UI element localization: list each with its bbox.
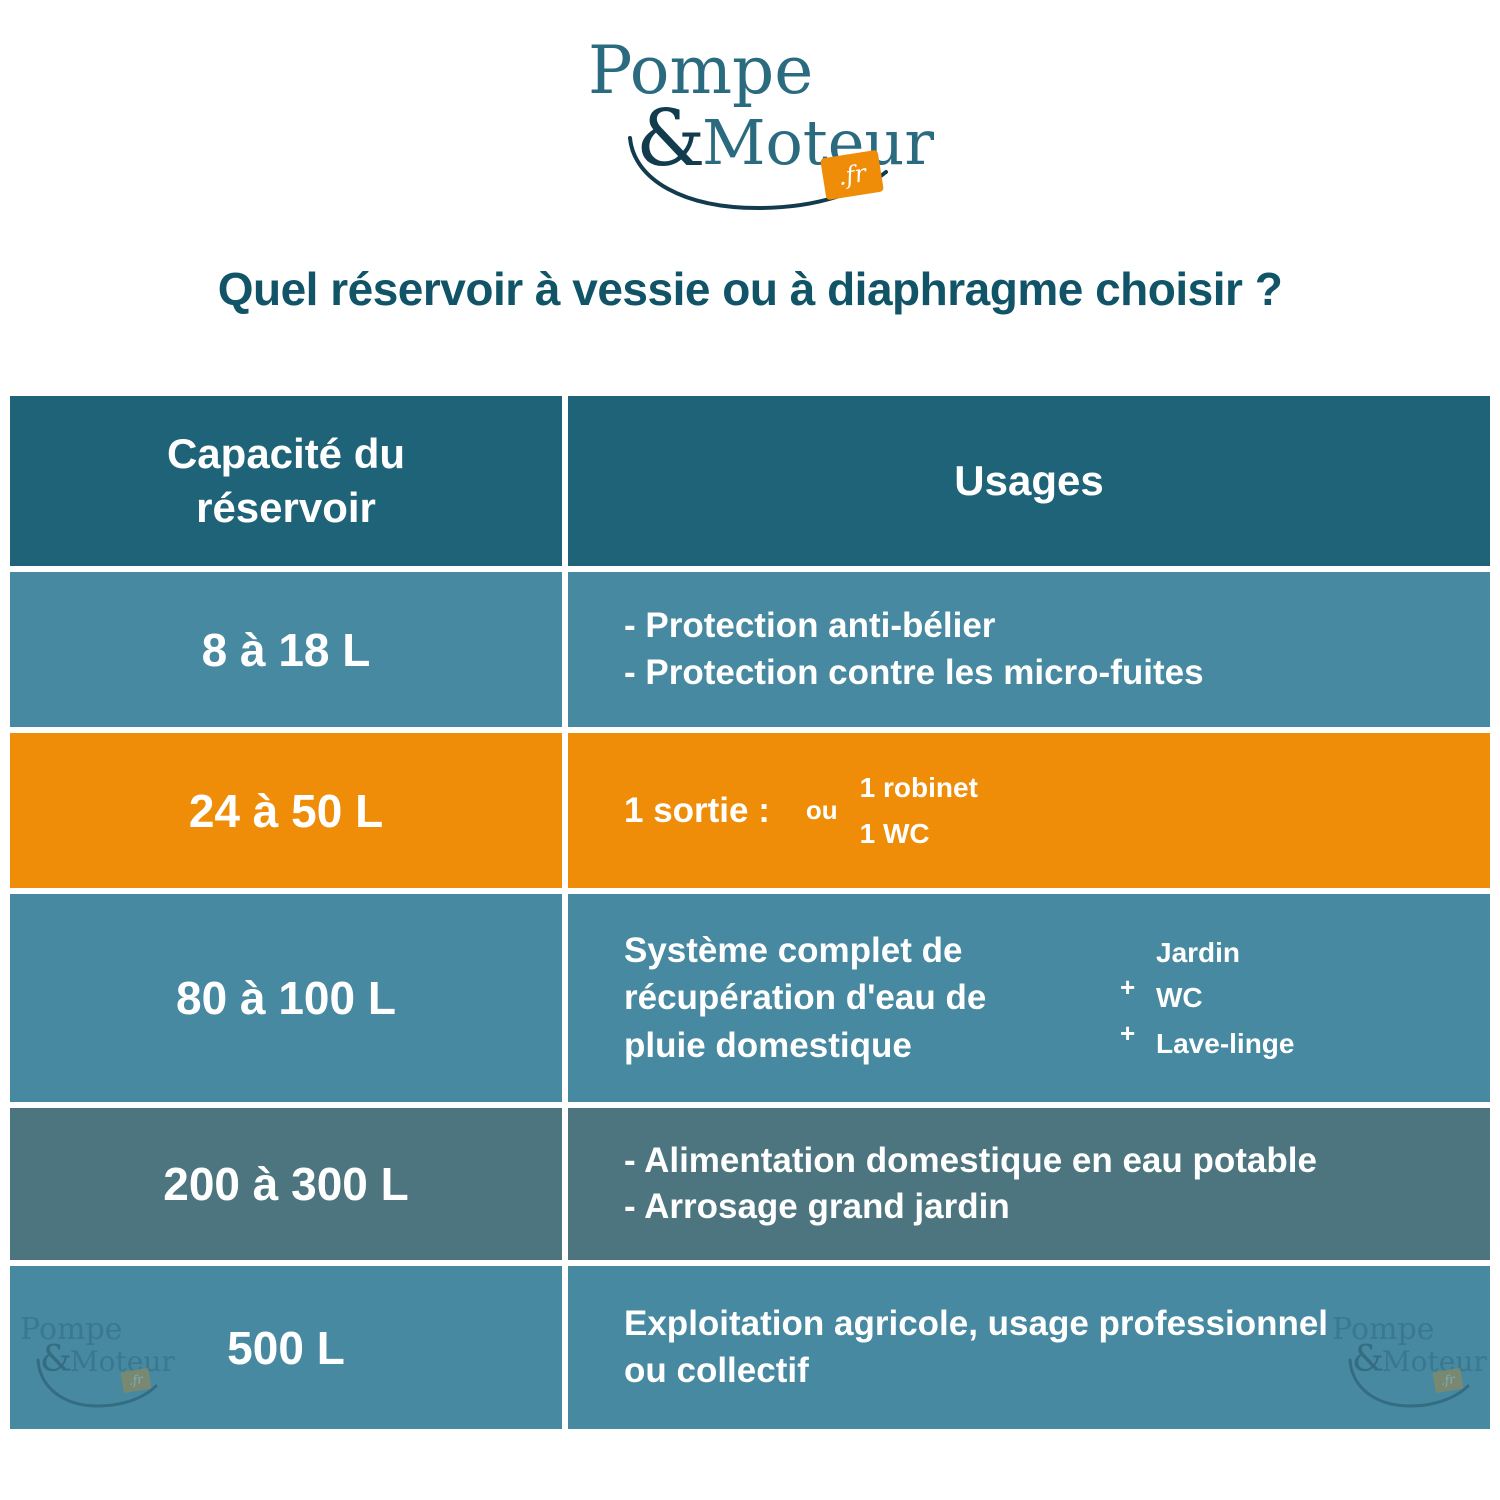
capacity-value-4: 200 à 300 L: [163, 1157, 409, 1211]
plus-sign-icon: +: [1120, 966, 1135, 1008]
header-usages-label: Usages: [624, 454, 1490, 508]
capacity-value-2: 24 à 50 L: [189, 784, 383, 838]
watermark-word-pompe: Pompe: [20, 1312, 122, 1347]
usage-list-4: - Alimentation domestique en eau potable…: [624, 1138, 1317, 1230]
row-capacity-cell-2: 24 à 50 L: [10, 733, 562, 888]
usage-line: - Arrosage grand jardin: [624, 1184, 1317, 1230]
plus-item: Lave-linge: [1120, 1021, 1294, 1066]
table-row: 80 à 100 L Système complet de récupérati…: [10, 894, 1490, 1102]
row-capacity-cell-3: 80 à 100 L: [10, 894, 562, 1102]
watermark-word-pompe: Pompe: [1332, 1312, 1434, 1347]
table-row: 200 à 300 L - Alimentation domestique en…: [10, 1108, 1490, 1260]
watermark-word-moteur: Moteur: [1382, 1345, 1487, 1378]
watermark-ampersand-icon: &: [40, 1342, 72, 1378]
usage-line: - Alimentation domestique en eau potable: [624, 1138, 1317, 1184]
usage-line: Exploitation agricole, usage professionn…: [624, 1301, 1328, 1347]
usage-sortie-group: 1 sortie : ou 1 robinet 1 WC: [624, 765, 978, 856]
watermark-swoosh-icon: [1346, 1356, 1476, 1412]
watermark-word-moteur: Moteur: [70, 1345, 175, 1378]
sortie-options: 1 robinet 1 WC: [860, 765, 978, 856]
header-capacity-label: Capacité du réservoir: [10, 427, 562, 535]
usage-line: pluie domestique: [624, 1022, 1094, 1070]
usage-line: - Protection contre les micro-fuites: [624, 650, 1204, 696]
plus-sign-icon: +: [1120, 1012, 1135, 1054]
plus-item: WC: [1120, 975, 1294, 1020]
plus-item: Jardin: [1120, 930, 1294, 975]
row-usage-cell-3: Système complet de récupération d'eau de…: [568, 894, 1490, 1102]
usage-line: ou collectif: [624, 1348, 1328, 1394]
row-capacity-cell-5: Pompe & Moteur .fr 500 L: [10, 1266, 562, 1429]
usage-plus-list: + + Jardin WC Lave-linge: [1120, 930, 1294, 1066]
watermark-logo-right: Pompe & Moteur .fr: [1328, 1310, 1478, 1414]
usage-system-group: Système complet de récupération d'eau de…: [624, 927, 1490, 1070]
header-capacity-line1: Capacité du: [167, 430, 405, 477]
usage-list-5: Exploitation agricole, usage professionn…: [624, 1301, 1328, 1393]
table-header-row: Capacité du réservoir Usages: [10, 396, 1490, 566]
header-cell-capacity: Capacité du réservoir: [10, 396, 562, 566]
row-usage-cell-1: - Protection anti-bélier - Protection co…: [568, 572, 1490, 727]
row-usage-cell-4: - Alimentation domestique en eau potable…: [568, 1108, 1490, 1260]
table-row: Pompe & Moteur .fr 500 L Exploitation ag…: [10, 1266, 1490, 1429]
sortie-label: 1 sortie :: [624, 791, 770, 831]
logo-tld-text: .fr: [820, 150, 884, 201]
capacity-value-3: 80 à 100 L: [176, 971, 396, 1025]
infographic-page: Pompe & Moteur .fr Quel réservoir à vess…: [0, 0, 1500, 1500]
usage-line: - Protection anti-bélier: [624, 603, 1204, 649]
watermark-tld-text: .fr: [1433, 1368, 1464, 1393]
sortie-option: 1 robinet: [860, 765, 978, 810]
capacity-value-1: 8 à 18 L: [202, 623, 371, 677]
page-title: Quel réservoir à vessie ou à diaphragme …: [0, 262, 1500, 316]
watermark-logo-left: Pompe & Moteur .fr: [16, 1310, 166, 1414]
table-row: 8 à 18 L - Protection anti-bélier - Prot…: [10, 572, 1490, 727]
logo-graphic: Pompe & Moteur .fr: [580, 24, 920, 204]
usage-system-description: Système complet de récupération d'eau de…: [624, 927, 1094, 1070]
header-capacity-line2: réservoir: [196, 484, 376, 531]
usage-line: récupération d'eau de: [624, 974, 1094, 1022]
row-capacity-cell-4: 200 à 300 L: [10, 1108, 562, 1260]
table-row: 24 à 50 L 1 sortie : ou 1 robinet 1 WC: [10, 733, 1490, 888]
watermark-ampersand-icon: &: [1352, 1342, 1384, 1378]
watermark-tld-badge: .fr: [1433, 1368, 1464, 1393]
usage-list-1: - Protection anti-bélier - Protection co…: [624, 603, 1204, 695]
row-usage-cell-2: 1 sortie : ou 1 robinet 1 WC: [568, 733, 1490, 888]
watermark-swoosh-icon: [34, 1356, 164, 1412]
row-usage-cell-5: Exploitation agricole, usage professionn…: [568, 1266, 1490, 1429]
usage-line: Système complet de: [624, 927, 1094, 975]
header-cell-usages: Usages: [568, 396, 1490, 566]
row-capacity-cell-1: 8 à 18 L: [10, 572, 562, 727]
sortie-connector: ou: [806, 795, 838, 826]
logo-tld-badge: .fr: [820, 150, 884, 201]
sortie-option: 1 WC: [860, 811, 978, 856]
watermark-tld-badge: .fr: [121, 1368, 152, 1393]
watermark-tld-text: .fr: [121, 1368, 152, 1393]
brand-logo: Pompe & Moteur .fr: [0, 24, 1500, 224]
capacity-value-5: 500 L: [227, 1321, 345, 1375]
capacity-usage-table: Capacité du réservoir Usages 8 à 18 L - …: [10, 396, 1490, 1435]
